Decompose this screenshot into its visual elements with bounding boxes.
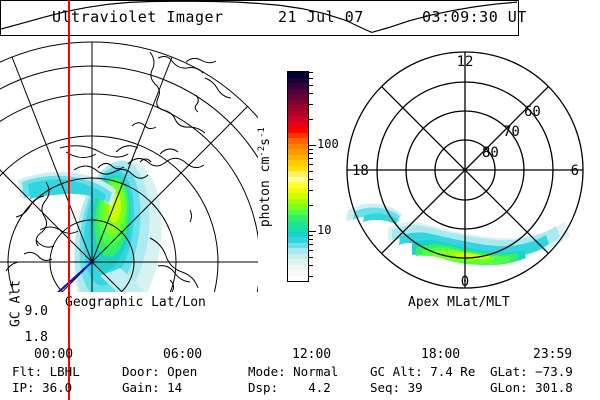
apex-mlat-mlt-plot: 12 18 6 0 60 70 80: [330, 40, 600, 292]
colorbar-tick: [309, 93, 313, 94]
colorbar-units-exp-cm: -2: [257, 146, 267, 157]
status-ip: IP: 36.0: [12, 380, 72, 395]
mlat-label-60: 60: [524, 104, 541, 120]
mlt-label-0: 0: [461, 274, 469, 290]
status-row-2: IP: 36.0 Gain: 14 Dsp: 4.2 Seq: 39 GLon:…: [0, 380, 600, 396]
xtick-label-1800: 18:00: [421, 348, 460, 362]
gc-alt-ytick-high: 9.0: [0, 305, 48, 318]
current-time-marker: [68, 0, 70, 400]
left-panel-subtitle: Geographic Lat/Lon: [65, 295, 206, 310]
aurora-emission-left: [18, 154, 173, 292]
colorbar-tick: [309, 158, 313, 159]
gc-altitude-strip-chart[interactable]: [0, 0, 519, 36]
colorbar-tick: [309, 276, 313, 277]
status-dsp: Dsp: 4.2: [248, 380, 331, 395]
status-door: Door: Open: [122, 364, 197, 379]
colorbar-tick: [309, 85, 313, 86]
colorbar-tick: [309, 257, 313, 258]
status-glon: GLon: 301.8: [490, 380, 573, 395]
colorbar-tick: [309, 235, 313, 236]
colorbar-tick: [309, 145, 316, 146]
mlt-label-18: 18: [352, 163, 369, 179]
colorbar-tick: [309, 250, 313, 251]
colorbar: 100 10: [287, 71, 309, 282]
status-flt: Flt: LBHL: [12, 364, 80, 379]
colorbar-tick: [309, 239, 313, 240]
colorbar-tick: [309, 205, 313, 206]
status-gcalt: GC Alt: 7.4 Re: [370, 364, 475, 379]
colorbar-tick: [309, 164, 313, 165]
aurora-emission-right: [346, 204, 570, 265]
colorbar-tick: [309, 119, 313, 120]
xtick-label-1200: 12:00: [292, 348, 331, 362]
colorbar-units-exp-s: -1: [257, 127, 267, 138]
mlt-label-6: 6: [571, 163, 579, 179]
status-row-1: Flt: LBHL Door: Open Mode: Normal GC Alt…: [0, 364, 600, 380]
colorbar-tick: [309, 72, 313, 73]
colorbar-units-s: s: [258, 138, 273, 146]
colorbar-tick: [309, 244, 313, 245]
xtick-label-0000: 00:00: [34, 348, 73, 362]
status-glat: GLat: −73.9: [490, 364, 573, 379]
colorbar-units-photon: photon cm: [258, 157, 273, 227]
colorbar-tick: [309, 171, 313, 172]
mlt-label-12: 12: [457, 54, 474, 70]
gc-alt-axis-label: GC Alt: [9, 274, 24, 334]
gc-altitude-trace: [0, 0, 517, 34]
colorbar-tick: [309, 231, 316, 232]
mlat-label-70: 70: [503, 124, 520, 140]
xtick-label-0600: 06:00: [163, 348, 202, 362]
status-bar: Flt: LBHL Door: Open Mode: Normal GC Alt…: [0, 364, 600, 398]
colorbar-tick: [309, 153, 313, 154]
colorbar-tick: [309, 265, 313, 266]
right-panel-subtitle: Apex MLat/MLT: [408, 295, 510, 310]
geographic-polar-plot: [0, 40, 258, 292]
mlat-label-80: 80: [482, 145, 499, 161]
colorbar-tick: [309, 190, 313, 191]
status-mode: Mode: Normal: [248, 364, 338, 379]
colorbar-segment: [288, 276, 308, 282]
colorbar-gradient: [287, 71, 309, 282]
colorbar-tick: [309, 104, 313, 105]
uvi-image-viewer: Ultraviolet Imager 21 Jul 07 03:09:30 UT: [0, 0, 600, 400]
status-seq: Seq: 39: [370, 380, 423, 395]
xtick-label-2359: 23:59: [533, 348, 572, 362]
colorbar-ticks: [309, 71, 317, 282]
colorbar-tick: [309, 179, 313, 180]
mlt-spokes: [347, 52, 583, 288]
gc-alt-ytick-low: 1.8: [0, 331, 48, 344]
colorbar-axis-title: photon cm-2s-1: [257, 72, 273, 282]
status-gain: Gain: 14: [122, 380, 182, 395]
colorbar-tick: [309, 149, 313, 150]
colorbar-tick: [309, 78, 313, 79]
